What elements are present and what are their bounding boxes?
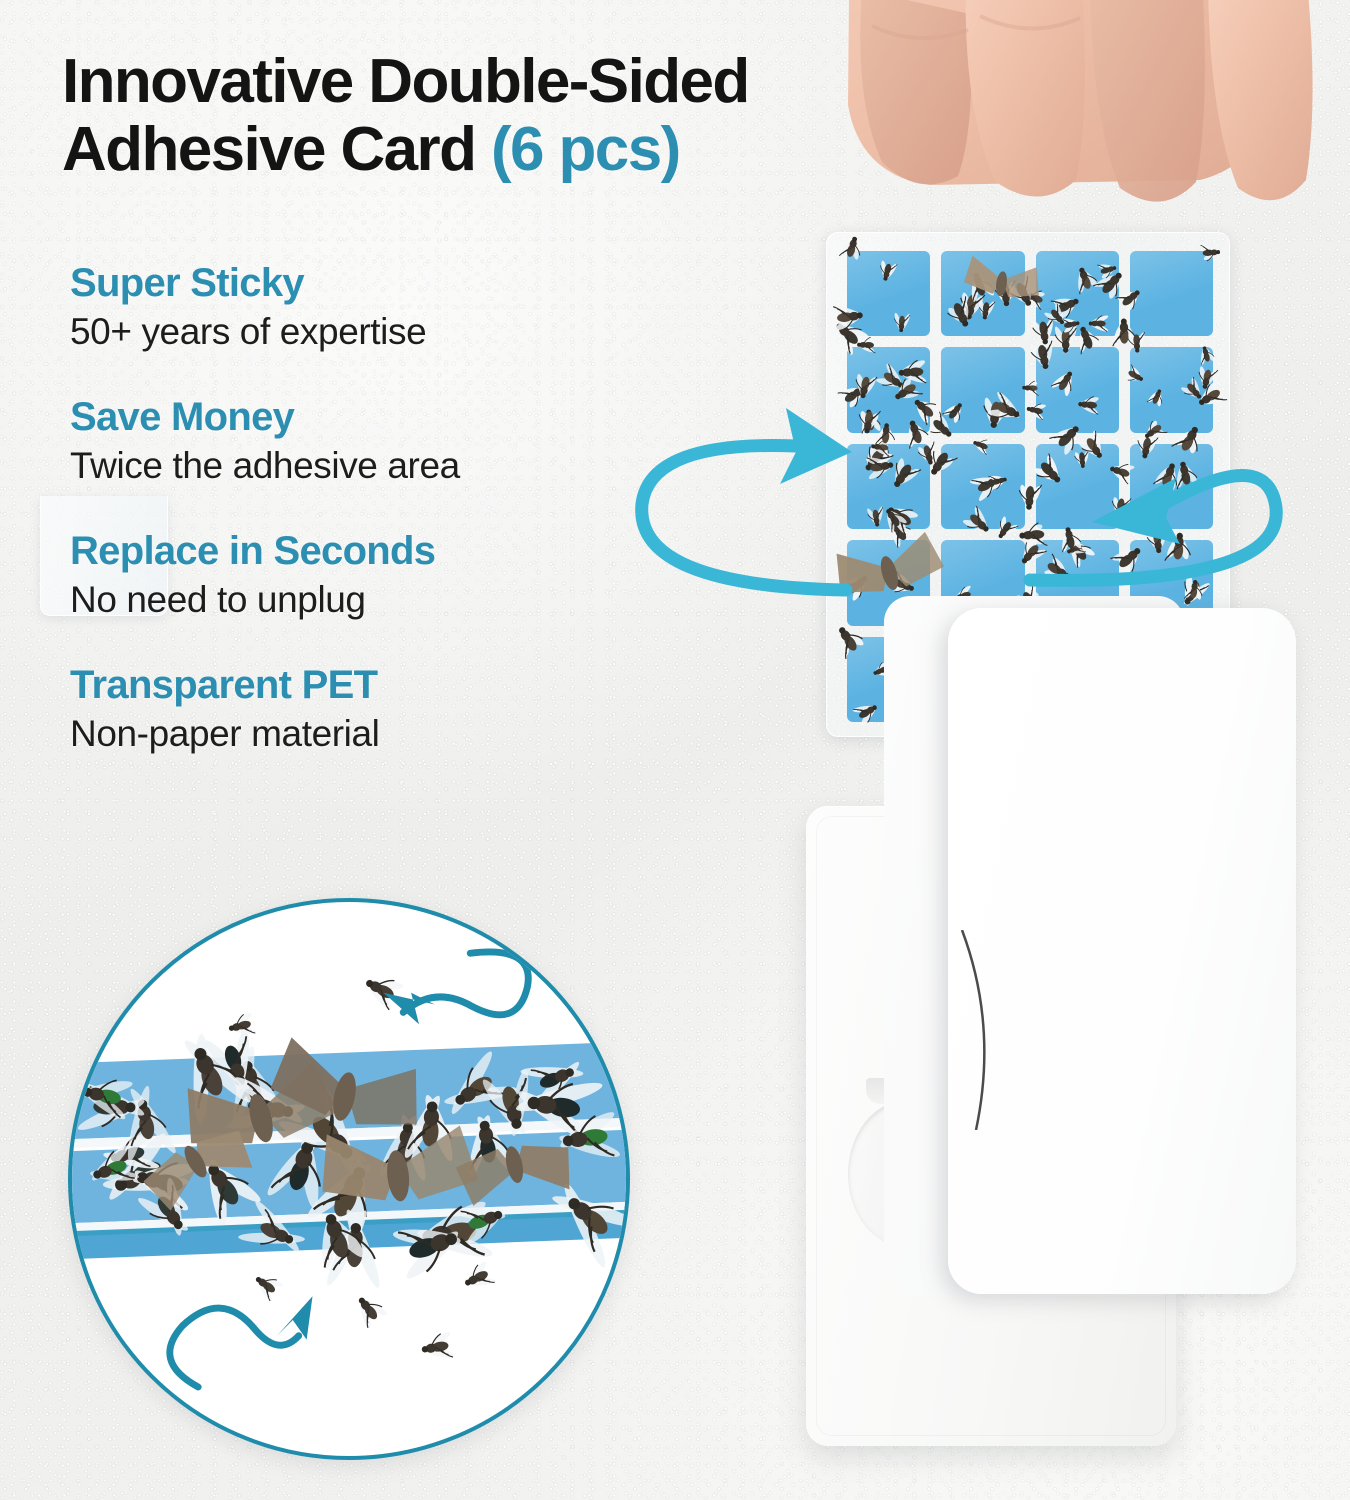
headline-quantity-badge: (6 pcs) [491, 115, 680, 184]
feature-subtitle: 50+ years of expertise [70, 310, 720, 354]
sticky-square [1036, 251, 1119, 336]
sticky-square [1130, 251, 1213, 336]
page-title: Innovative Double-Sided Adhesive Card (6… [62, 48, 942, 184]
catch-arrow-top-curl [403, 952, 528, 1015]
catch-arrow-bottom-curl [170, 1308, 299, 1387]
sticky-square [847, 251, 930, 336]
feature-title: Transparent PET [70, 664, 720, 707]
feature-item-save-money: Save Money Twice the adhesive area [70, 396, 720, 488]
feature-subtitle: No need to unplug [70, 578, 720, 622]
headline-line-2: Adhesive Card (6 pcs) [62, 116, 942, 184]
magnified-detail-circle [68, 898, 630, 1460]
headline-line-2-main: Adhesive Card [62, 115, 491, 184]
double-sided-catch-arrows [72, 902, 626, 1456]
device-seam-line [958, 930, 1004, 1130]
feature-subtitle: Twice the adhesive area [70, 444, 720, 488]
feature-title: Super Sticky [70, 262, 720, 305]
catch-arrow-bottom-head [277, 1296, 312, 1339]
sticky-square [941, 251, 1024, 336]
feature-item-transparent-pet: Transparent PET Non-paper material [70, 664, 720, 756]
feature-subtitle: Non-paper material [70, 712, 720, 756]
rotation-arrow-right-head [1092, 478, 1180, 544]
feature-list: Super Sticky 50+ years of expertise Save… [70, 262, 720, 755]
headline-line-1: Innovative Double-Sided [62, 47, 749, 116]
feature-item-super-sticky: Super Sticky 50+ years of expertise [70, 262, 720, 354]
feature-title: Replace in Seconds [70, 530, 720, 573]
feature-item-replace-in-seconds: Replace in Seconds No need to unplug [70, 530, 720, 622]
feature-title: Save Money [70, 396, 720, 439]
